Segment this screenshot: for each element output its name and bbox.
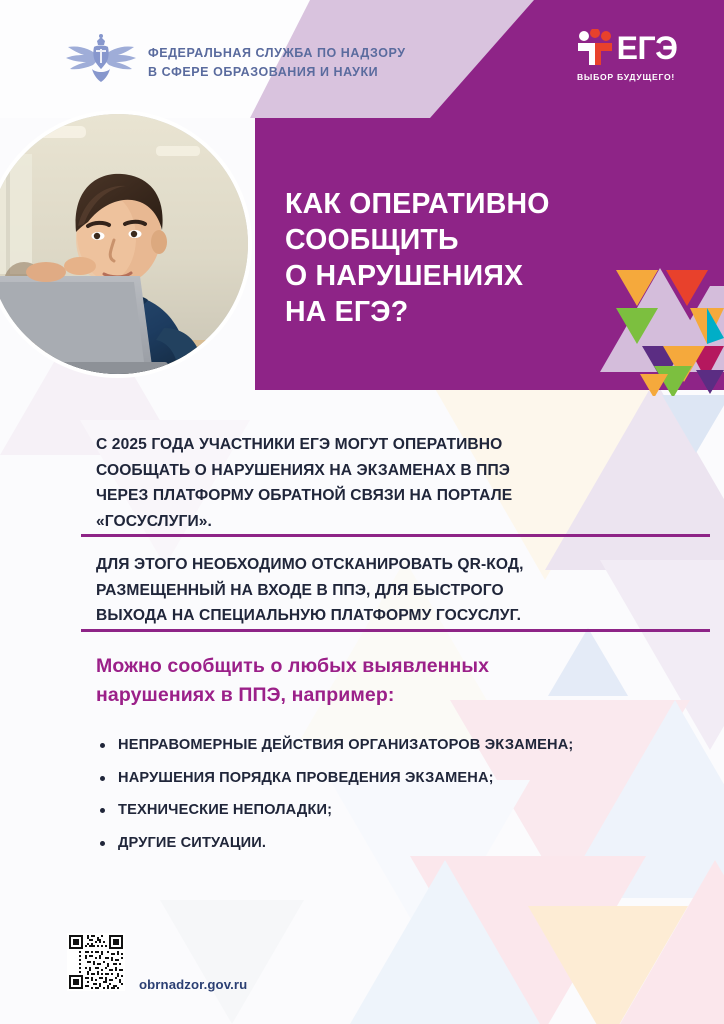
list-item: НЕПРАВОМЕРНЫЕ ДЕЙСТВИЯ ОРГАНИЗАТОРОВ ЭКЗ… [96,735,656,757]
ege-logo: ЕГЭ ВЫБОР БУДУЩЕГО! [566,28,686,82]
list-item: ТЕХНИЧЕСКИЕ НЕПОЛАДКИ; [96,800,656,822]
ege-wordmark: ЕГЭ [617,32,678,64]
rosobrnadzor-eagle-emblem-icon [64,33,138,89]
department-name: ФЕДЕРАЛЬНАЯ СЛУЖБА ПО НАДЗОРУ В СФЕРЕ ОБ… [148,44,406,82]
ege-tagline: ВЫБОР БУДУЩЕГО! [566,72,686,82]
ege-people-figure-icon [575,29,615,67]
qr-code[interactable] [67,933,125,991]
section-subheading: Можно сообщить о любых выявленных наруше… [96,652,636,710]
body-paragraph-1: С 2025 ГОДА УЧАСТНИКИ ЕГЭ МОГУТ ОПЕРАТИВ… [96,432,636,534]
site-url[interactable]: obrnadzor.gov.ru [139,977,247,992]
list-item: НАРУШЕНИЯ ПОРЯДКА ПРОВЕДЕНИЯ ЭКЗАМЕНА; [96,768,656,790]
violation-types-list: НЕПРАВОМЕРНЫЕ ДЕЙСТВИЯ ОРГАНИЗАТОРОВ ЭКЗ… [96,735,656,865]
page-title: КАК ОПЕРАТИВНО СООБЩИТЬ О НАРУШЕНИЯХ НА … [285,186,615,330]
body-paragraph-2: ДЛЯ ЭТОГО НЕОБХОДИМО ОТСКАНИРОВАТЬ QR-КО… [96,552,636,629]
list-item: ДРУГИЕ СИТУАЦИИ. [96,833,656,855]
divider-line-2 [81,629,710,632]
divider-line-1 [81,534,710,537]
decorative-color-triangles [596,252,724,396]
poster-root: КАК ОПЕРАТИВНО СООБЩИТЬ О НАРУШЕНИЯХ НА … [0,0,724,1024]
student-at-laptop-photo [0,110,252,378]
